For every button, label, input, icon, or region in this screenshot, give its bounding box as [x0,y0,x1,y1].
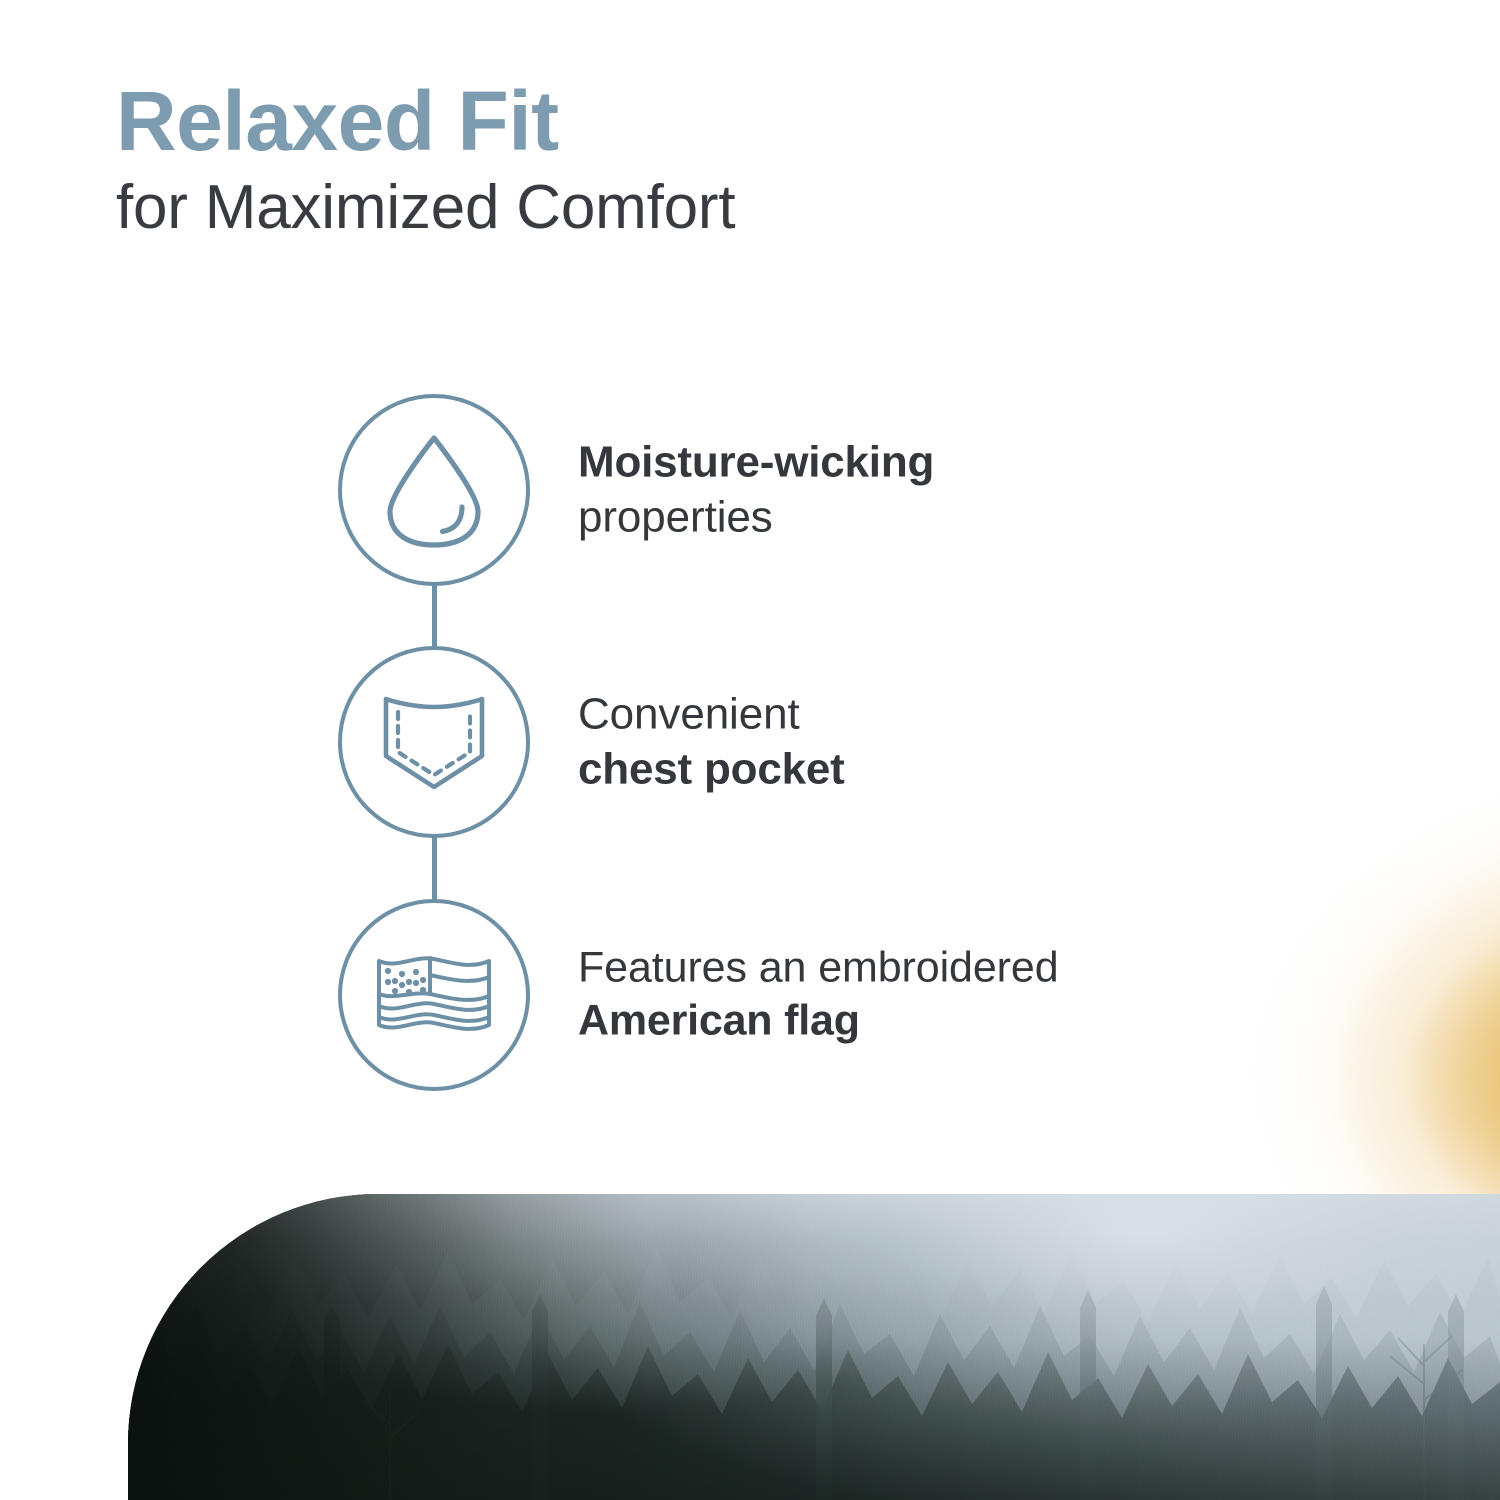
connector-line-2 [432,835,437,901]
feature-icon-circle [338,394,530,586]
feature-icon-circle [338,899,530,1091]
feature-line-1: Convenient [578,687,1298,742]
feature-text: Features an embroidered American flag [578,942,1298,1049]
water-droplet-icon [382,431,486,549]
forest-photo [128,1194,1500,1500]
feature-line-2: American flag [578,995,1298,1048]
infographic-canvas: Relaxed Fit for Maximized Comfort Moistu… [0,0,1500,1500]
feature-line-2: properties [578,490,1298,545]
feature-line-1: Moisture-wicking [578,435,1298,490]
feature-icon-circle [338,646,530,838]
feature-text: Moisture-wicking properties [578,435,1298,544]
chest-pocket-icon [378,690,490,794]
feature-line-2: chest pocket [578,742,1298,797]
photo-grain-layer [128,1194,1500,1500]
connector-line-1 [432,582,437,648]
feature-list: Moisture-wicking properties Convenient c… [0,0,1500,1150]
feature-text: Convenient chest pocket [578,687,1298,796]
feature-item-chest-pocket: Convenient chest pocket [338,646,1338,838]
feature-item-moisture-wicking: Moisture-wicking properties [338,394,1338,586]
feature-line-1: Features an embroidered [578,942,1298,995]
american-flag-icon [375,953,493,1037]
feature-item-american-flag: Features an embroidered American flag [338,899,1338,1091]
